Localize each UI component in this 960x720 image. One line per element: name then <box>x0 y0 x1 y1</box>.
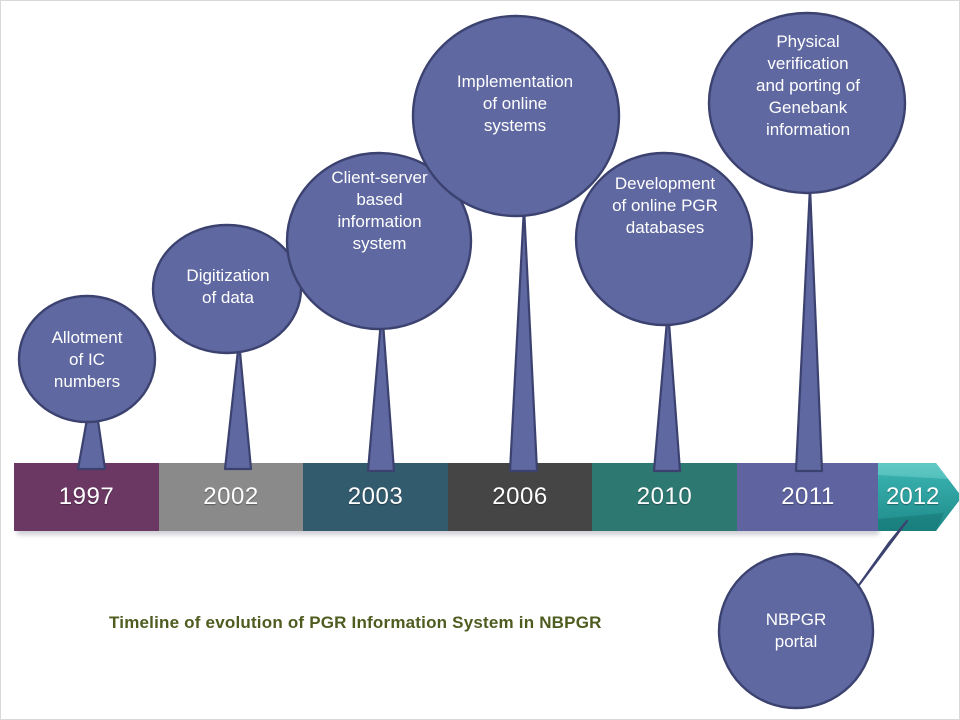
timeline-segment-label: 1997 <box>59 483 114 511</box>
timeline-segment-label: 2011 <box>781 483 835 511</box>
timeline-segment-label: 2002 <box>203 483 258 511</box>
callout-bubble-shape <box>704 9 916 483</box>
diagram-caption: Timeline of evolution of PGR Information… <box>109 613 602 633</box>
timeline-segment-label: 2003 <box>348 483 403 511</box>
timeline-segment-label: 2012 <box>886 483 939 511</box>
timeline-segment-label: 2010 <box>637 483 692 511</box>
callout-2012[interactable]: NBPGR portal <box>711 521 951 720</box>
callout-2011[interactable]: Physical verification and porting of Gen… <box>704 9 916 483</box>
callout-bubble-shape <box>711 521 951 720</box>
timeline-segment-label: 2006 <box>492 483 547 511</box>
timeline-diagram: 1997 2002 2003 2006 2010 2011 <box>0 0 960 720</box>
